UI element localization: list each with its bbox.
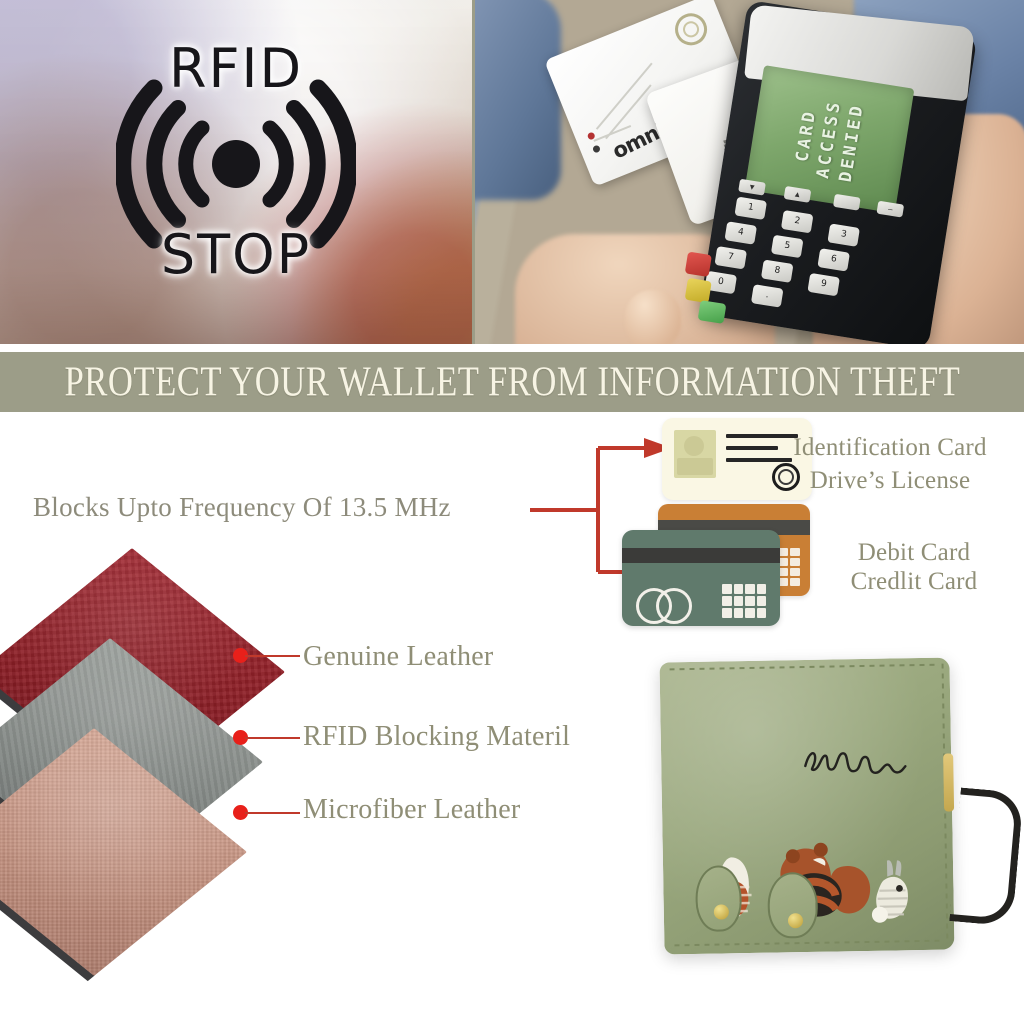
headline-banner: PROTECT YOUR WALLET FROM INFORMATION THE…: [0, 352, 1024, 412]
id-seal-icon: [772, 463, 800, 491]
material-layers-illustration: [12, 598, 292, 908]
left-denim-sleeve: [475, 0, 561, 200]
wallet-stitching-bottom: [674, 940, 942, 947]
wallet-zipper-pull[interactable]: [943, 753, 954, 811]
thumb: [625, 290, 681, 344]
key-6[interactable]: 6: [817, 248, 850, 271]
infographic-page: RFID STOP: [0, 0, 1024, 1018]
card-trace: [596, 63, 653, 130]
identification-card-illustration: [662, 418, 812, 500]
id-head-icon: [684, 436, 704, 456]
id-text-line: [726, 458, 792, 462]
wallet-body: [659, 657, 954, 954]
nav-menu-button[interactable]: [833, 194, 861, 211]
top-photo-strip: RFID STOP: [0, 0, 1024, 352]
id-text-line: [726, 446, 778, 450]
wallet-flap-left[interactable]: [695, 865, 742, 932]
terminal-screen-text: CARD ACCESS DENIED: [789, 95, 869, 184]
rfid-stop-logo-photo: RFID STOP: [0, 0, 475, 344]
dual-circles-logo-icon: [636, 588, 692, 622]
key-5[interactable]: 5: [771, 235, 804, 258]
wallet-embroidery-group: [700, 824, 932, 936]
pos-terminal-photo: omnicard: [475, 0, 1024, 344]
rfid-wallet-photo: [650, 652, 990, 972]
nav-up-button[interactable]: ▲: [784, 186, 812, 203]
id-photo-placeholder: [674, 430, 716, 478]
id-text-line: [726, 434, 798, 438]
enter-key[interactable]: [698, 300, 727, 324]
microfiber-lead-line: [245, 812, 300, 814]
microfiber-leather-label: Microfiber Leather: [303, 794, 520, 826]
pos-terminal: CARD ACCESS DENIED ▼ ▲ – 1 2 3 4 5: [699, 0, 978, 344]
debit-card-label-line2: Credlit Card: [851, 568, 978, 596]
rfid-material-lead-line: [245, 737, 300, 739]
magnetic-stripe: [622, 548, 780, 563]
id-body-icon: [677, 458, 713, 475]
key-9[interactable]: 9: [807, 273, 840, 296]
rfid-blocking-material-label: RFID Blocking Materil: [303, 721, 570, 753]
rfid-stop-icon: RFID STOP: [116, 42, 356, 286]
key-2[interactable]: 2: [781, 210, 814, 233]
genuine-leather-label: Genuine Leather: [303, 641, 493, 673]
rabbit-embroidery-icon: [869, 856, 930, 929]
debit-card-illustration: [622, 530, 780, 626]
wallet-stitching-top: [670, 664, 938, 671]
cancel-key[interactable]: [685, 252, 712, 277]
nav-down-button[interactable]: ▼: [738, 179, 766, 196]
debit-card-label-line1: Debit Card: [858, 539, 970, 567]
identification-card-label-line1: Identification Card: [793, 434, 986, 462]
rfid-logo-bottom-label: STOP: [116, 228, 356, 282]
key-4[interactable]: 4: [724, 221, 757, 244]
wallet-brand-script-logo: [801, 744, 912, 780]
identification-card-label-line2: Drive’s License: [810, 467, 971, 495]
clear-key[interactable]: [685, 278, 712, 303]
card-grid-icon: [722, 584, 766, 618]
key-dot[interactable]: .: [751, 284, 784, 307]
key-1[interactable]: 1: [734, 197, 767, 220]
wallet-flap-right[interactable]: [767, 872, 818, 939]
key-3[interactable]: 3: [827, 223, 860, 246]
key-8[interactable]: 8: [761, 259, 794, 282]
genuine-leather-lead-line: [245, 655, 300, 657]
nav-back-button[interactable]: –: [876, 201, 904, 218]
headline-text: PROTECT YOUR WALLET FROM INFORMATION THE…: [64, 358, 960, 407]
card-led: [592, 144, 601, 153]
frequency-label: Blocks Upto Frequency Of 13.5 MHz: [33, 492, 451, 523]
card-ring-icon: [670, 9, 712, 51]
